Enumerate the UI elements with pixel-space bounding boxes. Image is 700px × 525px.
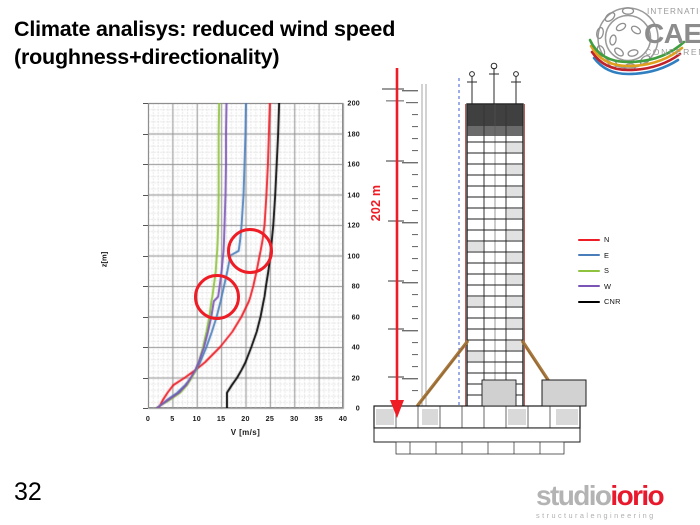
chart-x-tick-label: 30 bbox=[281, 414, 307, 423]
cae-conference-logo: INTERNATIONAL CAE CONFERENCE bbox=[588, 0, 700, 78]
highlight-kink-upper bbox=[227, 228, 273, 274]
studio-iorio-logo: studioiorio structuralengineering bbox=[536, 482, 694, 520]
cae-logo-line3: CONFERENCE bbox=[645, 47, 700, 57]
height-dimension-arrow bbox=[386, 66, 408, 418]
logo-tagline: structuralengineering bbox=[536, 511, 694, 520]
chart-y-tick-mark bbox=[143, 378, 148, 379]
chart-y-tick-mark bbox=[143, 103, 148, 104]
chart-y-axis-label: z[m] bbox=[100, 252, 109, 267]
chart-y-tick-label: 80 bbox=[326, 282, 360, 291]
chart-y-tick-label: 100 bbox=[326, 251, 360, 260]
drawing-roof-masts bbox=[467, 63, 521, 104]
legend-item-label: S bbox=[604, 266, 609, 275]
chart-y-tick-label: 160 bbox=[326, 160, 360, 169]
chart-x-tick-label: 15 bbox=[208, 414, 234, 423]
chart-x-tick-label: 25 bbox=[257, 414, 283, 423]
chart-y-tick-mark bbox=[143, 347, 148, 348]
title-line-1: Climate analisys: reduced wind speed bbox=[14, 17, 395, 41]
legend-item-label: N bbox=[604, 235, 610, 244]
chart-y-tick-label: 200 bbox=[326, 99, 360, 108]
drawing-dimension-ticks bbox=[422, 84, 426, 414]
chart-y-tick-label: 40 bbox=[326, 343, 360, 352]
cae-logo-line1: INTERNATIONAL bbox=[647, 7, 700, 16]
chart-y-tick-mark bbox=[143, 195, 148, 196]
slide-canvas: Climate analisys: reduced wind speed (ro… bbox=[0, 0, 700, 525]
cae-logo-line2: CAE bbox=[644, 18, 700, 49]
chart-y-tick-mark bbox=[143, 408, 148, 409]
page-number: 32 bbox=[14, 478, 42, 507]
chart-x-axis-label: V [m/s] bbox=[148, 428, 343, 437]
chart-x-tick-label: 10 bbox=[184, 414, 210, 423]
chart-y-tick-label: 0 bbox=[326, 404, 360, 413]
chart-y-tick-label: 140 bbox=[326, 190, 360, 199]
chart-x-tick-label: 35 bbox=[306, 414, 332, 423]
chart-x-tick-label: 5 bbox=[159, 414, 185, 423]
dimension-arrowhead-bottom bbox=[390, 400, 404, 418]
chart-y-tick-label: 120 bbox=[326, 221, 360, 230]
chart-y-tick-label: 180 bbox=[326, 129, 360, 138]
chart-y-tick-mark bbox=[143, 164, 148, 165]
highlight-kink-lower bbox=[194, 274, 240, 320]
chart-x-tick-label: 0 bbox=[135, 414, 161, 423]
chart-y-tick-mark bbox=[143, 286, 148, 287]
logo-word-studio: studio bbox=[536, 480, 610, 511]
legend-item-label: W bbox=[604, 282, 611, 291]
wind-profile-chart: 020406080100120140160180200 051015202530… bbox=[110, 92, 360, 437]
studio-iorio-wordmark: studioiorio bbox=[536, 482, 694, 510]
chart-y-tick-label: 60 bbox=[326, 312, 360, 321]
legend-item-label: E bbox=[604, 251, 609, 260]
chart-y-tick-mark bbox=[143, 225, 148, 226]
logo-word-iorio: iorio bbox=[610, 480, 663, 511]
height-dimension-label: 202 m bbox=[369, 185, 383, 221]
legend-item-label: CNR bbox=[604, 297, 621, 306]
chart-y-tick-mark bbox=[143, 134, 148, 135]
chart-y-tick-mark bbox=[143, 317, 148, 318]
chart-y-tick-mark bbox=[143, 256, 148, 257]
chart-x-tick-label: 40 bbox=[330, 414, 356, 423]
chart-x-tick-label: 20 bbox=[233, 414, 259, 423]
chart-y-tick-label: 20 bbox=[326, 373, 360, 382]
